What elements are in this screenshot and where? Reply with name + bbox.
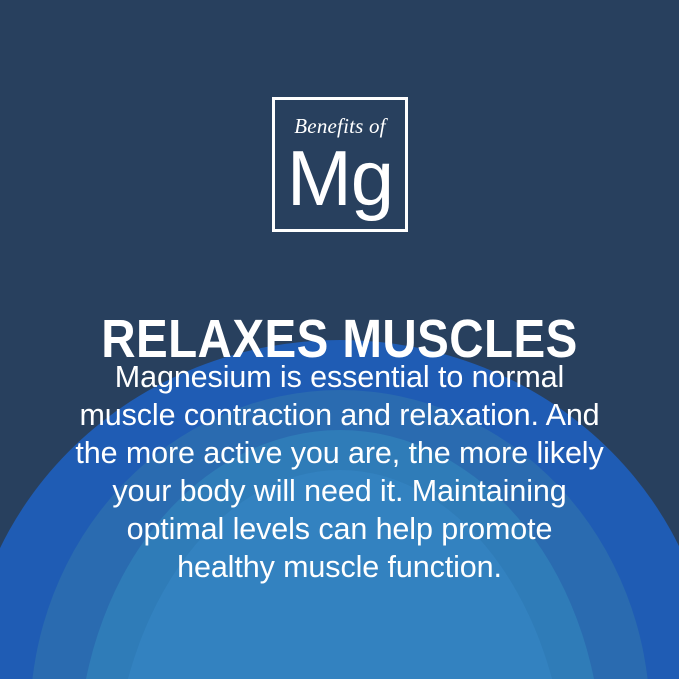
mg-logo-inner-frame: Benefits of Mg (275, 100, 405, 229)
body-paragraph: Magnesium is essential to normal muscle … (50, 358, 630, 586)
body-line: your body will need it. Maintaining (50, 472, 630, 510)
body-line: healthy muscle function. (50, 548, 630, 586)
body-line: muscle contraction and relaxation. And (50, 396, 630, 434)
body-line: the more active you are, the more likely (50, 434, 630, 472)
body-line: optimal levels can help promote (50, 510, 630, 548)
poster-canvas: Benefits of Mg RELAXES MUSCLES Magnesium… (0, 0, 679, 679)
logo-element-symbol: Mg (287, 141, 393, 215)
mg-logo-badge: Benefits of Mg (272, 97, 408, 232)
body-line: Magnesium is essential to normal (50, 358, 630, 396)
